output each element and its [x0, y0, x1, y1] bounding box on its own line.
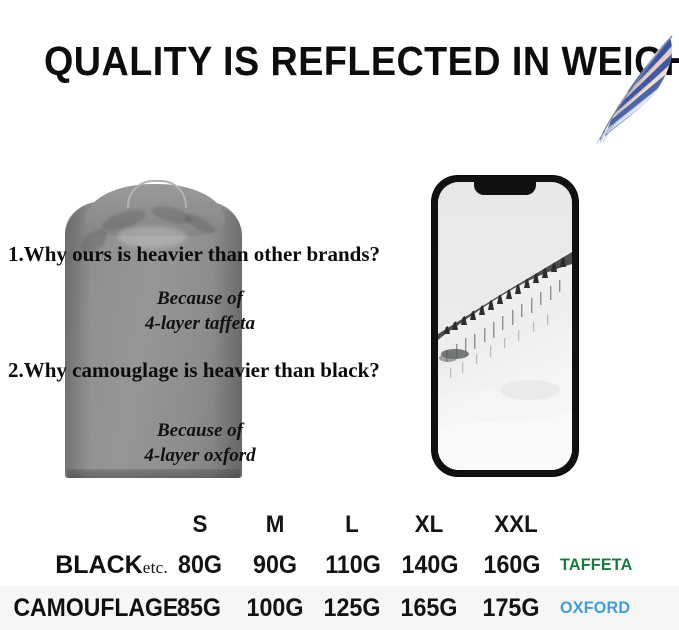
title-bar: QUALITY IS REFLECTED IN WEIGHT: [0, 38, 679, 90]
answer-1-line-1: Because of: [105, 286, 295, 311]
page-title: QUALITY IS REFLECTED IN WEIGHT: [44, 38, 568, 84]
weight-black-xl: 140G: [400, 544, 460, 586]
size-header-m: M: [249, 506, 301, 544]
weight-black-l: 110G: [324, 544, 382, 586]
row-label-black-main: BLACK: [55, 551, 143, 579]
answer-2-line-2: 4-layer oxford: [105, 443, 295, 468]
phone-mockup: [432, 176, 578, 476]
answer-2-line-1: Because of: [105, 418, 295, 443]
table-header-row: S M L XL XXL: [0, 506, 679, 544]
phone-notch: [474, 182, 536, 195]
weight-camo-m: 100G: [245, 586, 305, 630]
weight-black-s: 80G: [174, 544, 226, 586]
weight-black-xxl: 160G: [481, 544, 542, 586]
size-header-xl: XL: [403, 506, 455, 544]
material-taffeta: TAFFETA: [560, 544, 666, 586]
answer-1-line-2: 4-layer taffeta: [105, 311, 295, 336]
row-label-black-suffix: etc.: [143, 558, 168, 577]
table-row: BLACKetc. 80G 90G 110G 140G 160G TAFFETA: [0, 544, 679, 586]
size-header-s: S: [174, 506, 226, 544]
size-header-l: L: [326, 506, 378, 544]
phone-screen: [438, 182, 572, 470]
table-row: CAMOUFLAGE 85G 100G 125G 165G 175G OXFOR…: [0, 586, 679, 630]
weight-camo-s: 85G: [172, 586, 226, 630]
infographic-canvas: QUALITY IS REFLECTED IN WEIGHT: [0, 0, 679, 630]
weight-camo-l: 125G: [322, 586, 382, 630]
weight-black-m: 90G: [249, 544, 301, 586]
row-label-camouflage: CAMOUFLAGE: [13, 586, 168, 630]
spec-table: S M L XL XXL BLACKetc. 80G 90G 110G 140G…: [0, 506, 679, 630]
size-header-xxl: XXL: [487, 506, 545, 544]
phone-wallpaper: [438, 182, 572, 470]
question-1: 1.Why ours is heavier than other brands?: [8, 242, 380, 267]
feather-icon: [596, 32, 678, 144]
row-label-black: BLACKetc.: [0, 544, 168, 589]
weight-camo-xxl: 175G: [480, 586, 541, 630]
material-oxford: OXFORD: [560, 586, 666, 630]
bag-bottom-edge: [67, 469, 240, 478]
answer-2: Because of 4-layer oxford: [105, 418, 295, 468]
question-2: 2.Why camouglage is heavier than black?: [8, 358, 380, 383]
weight-camo-xl: 165G: [399, 586, 459, 630]
answer-1: Because of 4-layer taffeta: [105, 286, 295, 336]
